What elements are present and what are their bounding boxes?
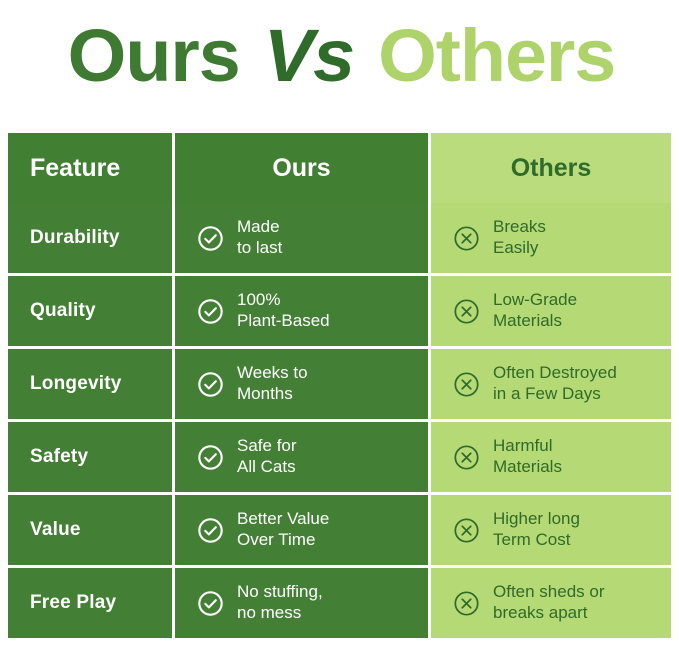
table-row: Quality100% Plant-BasedLow-Grade Materia… [8,276,671,346]
row-cell-feature: Quality [8,276,172,346]
check-circle-icon [197,444,224,471]
feature-label: Free Play [30,592,116,614]
ours-value: Weeks to Months [197,363,308,404]
row-cell-ours: Weeks to Months [175,349,428,419]
row-cell-ours: Made to last [175,203,428,273]
table-row: Free PlayNo stuffing, no messOften sheds… [8,568,671,638]
x-circle-icon [453,371,480,398]
row-cell-others: Low-Grade Materials [431,276,671,346]
others-value: Low-Grade Materials [453,290,577,331]
row-cell-ours: Better Value Over Time [175,495,428,565]
others-value: Harmful Materials [453,436,562,477]
ours-value-text: Made to last [237,217,282,258]
ours-value-text: 100% Plant-Based [237,290,330,331]
check-circle-icon [197,517,224,544]
ours-value-text: Weeks to Months [237,363,308,404]
row-cell-feature: Value [8,495,172,565]
comparison-table: Feature Ours Others DurabilityMade to la… [8,133,671,646]
others-value-text: Breaks Easily [493,217,546,258]
row-cell-others: Higher long Term Cost [431,495,671,565]
ours-value: Safe for All Cats [197,436,297,477]
title-segment-ours: Ours [68,14,240,97]
ours-value: Better Value Over Time [197,509,329,550]
x-circle-icon [453,444,480,471]
table-header-row: Feature Ours Others [8,133,671,203]
header-cell-ours: Ours [175,133,428,203]
row-cell-feature: Longevity [8,349,172,419]
row-cell-feature: Free Play [8,568,172,638]
others-value-text: Low-Grade Materials [493,290,577,331]
others-value: Higher long Term Cost [453,509,580,550]
header-label-others: Others [511,154,592,183]
table-row: LongevityWeeks to MonthsOften Destroyed … [8,349,671,419]
header-label-feature: Feature [30,154,120,183]
table-body: DurabilityMade to lastBreaks EasilyQuali… [8,203,671,638]
check-circle-icon [197,225,224,252]
ours-value-text: Safe for All Cats [237,436,297,477]
x-circle-icon [453,590,480,617]
row-cell-ours: No stuffing, no mess [175,568,428,638]
feature-label: Quality [30,300,96,322]
x-circle-icon [453,298,480,325]
row-cell-others: Harmful Materials [431,422,671,492]
header-label-ours: Ours [272,154,330,183]
page-title: Ours Vs Others [68,19,616,93]
ours-value-text: No stuffing, no mess [237,582,323,623]
table-row: SafetySafe for All CatsHarmful Materials [8,422,671,492]
ours-value: 100% Plant-Based [197,290,330,331]
x-circle-icon [453,517,480,544]
others-value-text: Often sheds or breaks apart [493,582,605,623]
table-row: DurabilityMade to lastBreaks Easily [8,203,671,273]
ours-value: No stuffing, no mess [197,582,323,623]
row-cell-others: Often sheds or breaks apart [431,568,671,638]
row-cell-feature: Durability [8,203,172,273]
others-value-text: Often Destroyed in a Few Days [493,363,617,404]
feature-label: Durability [30,227,120,249]
title-segment-others: Others [378,14,615,97]
others-value-text: Harmful Materials [493,436,562,477]
feature-label: Longevity [30,373,122,395]
check-circle-icon [197,590,224,617]
ours-value-text: Better Value Over Time [237,509,329,550]
row-cell-ours: Safe for All Cats [175,422,428,492]
header-cell-feature: Feature [8,133,172,203]
check-circle-icon [197,298,224,325]
ours-value: Made to last [197,217,282,258]
row-cell-others: Often Destroyed in a Few Days [431,349,671,419]
check-circle-icon [197,371,224,398]
page-title-bar: Ours Vs Others [0,0,679,112]
others-value: Breaks Easily [453,217,546,258]
others-value: Often sheds or breaks apart [453,582,605,623]
feature-label: Safety [30,446,88,468]
title-segment-vs: Vs [260,14,358,97]
feature-label: Value [30,519,81,541]
others-value-text: Higher long Term Cost [493,509,580,550]
row-cell-feature: Safety [8,422,172,492]
others-value: Often Destroyed in a Few Days [453,363,617,404]
row-cell-others: Breaks Easily [431,203,671,273]
row-cell-ours: 100% Plant-Based [175,276,428,346]
x-circle-icon [453,225,480,252]
table-row: ValueBetter Value Over TimeHigher long T… [8,495,671,565]
header-cell-others: Others [431,133,671,203]
